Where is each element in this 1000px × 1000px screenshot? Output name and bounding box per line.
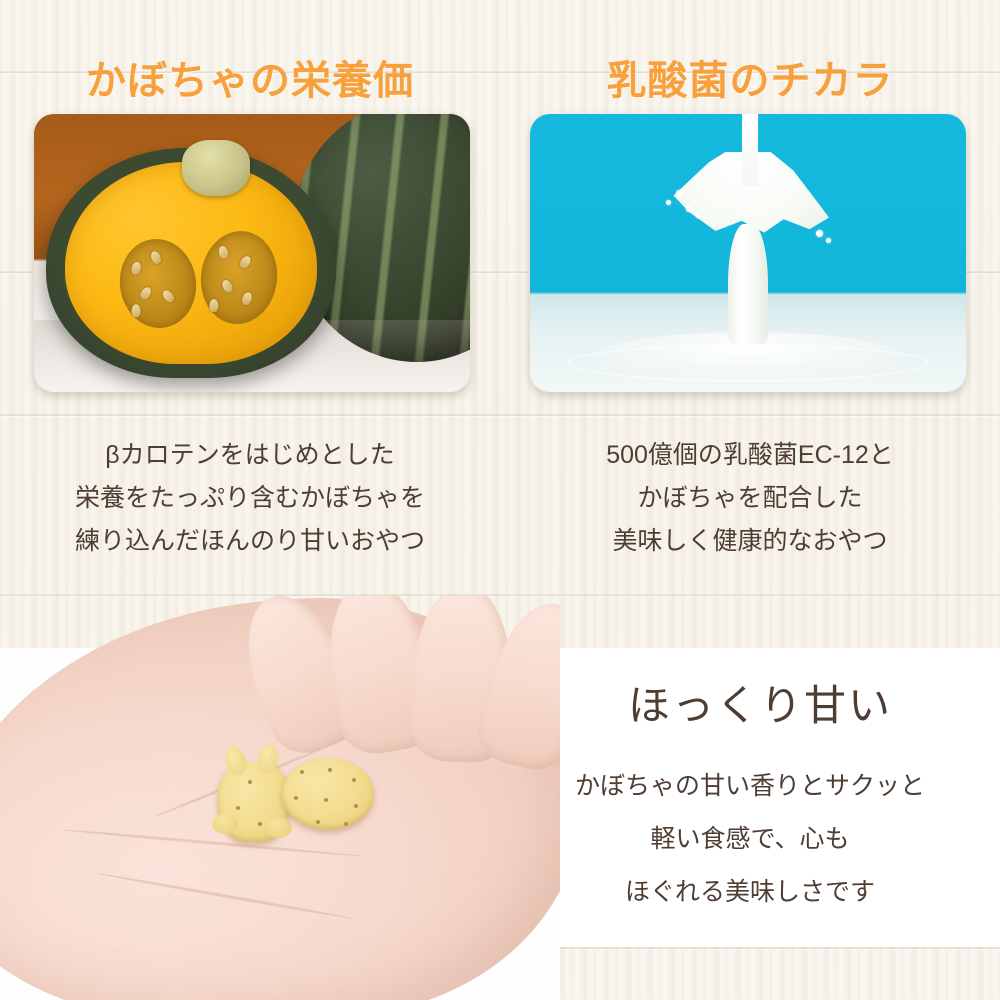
- cookie-dock-hole: [354, 804, 358, 808]
- right-panel-heading: 乳酸菌のチカラ: [500, 48, 1000, 106]
- bunny-foot: [212, 814, 238, 834]
- pumpkin-seed: [240, 290, 253, 305]
- seed-pocket: [115, 234, 202, 333]
- bunny-foot: [266, 818, 292, 838]
- milk-splash-photo-card: [530, 114, 966, 392]
- cookie-dock-hole: [300, 770, 304, 774]
- milk-droplet: [696, 214, 700, 218]
- pumpkin-flesh: [65, 162, 317, 364]
- right-panel-copy: 500億個の乳酸菌EC-12と かぼちゃを配合した 美味しく健康的なおやつ: [500, 434, 1000, 563]
- pumpkin-seed: [209, 298, 218, 311]
- copy-line: 美味しく健康的なおやつ: [500, 520, 1000, 563]
- milk-droplet: [826, 238, 831, 243]
- milk-droplet: [676, 190, 683, 197]
- cookie-dock-hole: [344, 822, 348, 826]
- milk-droplet: [816, 230, 823, 237]
- seed-pocket: [196, 226, 282, 328]
- milk-column: [728, 224, 768, 344]
- product-feature-banner: かぼちゃの栄養価: [0, 0, 1000, 1000]
- copy-line: 500億個の乳酸菌EC-12と: [500, 434, 1000, 477]
- cookie-dock-hole: [248, 780, 252, 784]
- pumpkin-seed: [161, 288, 176, 304]
- pumpkin-seed: [130, 260, 142, 275]
- bottom-heading: ほっくり甘い: [520, 672, 1000, 733]
- cookie-dock-hole: [294, 796, 298, 800]
- left-panel-heading: かぼちゃの栄養価: [0, 48, 500, 106]
- bunny-shaped-cookie: [218, 762, 290, 842]
- pumpkin-seed: [218, 245, 229, 259]
- round-scalloped-cookie: [282, 758, 374, 830]
- palm-crease: [62, 828, 361, 857]
- pumpkin-seed: [139, 285, 154, 301]
- cookie-dock-hole: [316, 820, 320, 824]
- copy-line: 練り込んだほんのり甘いおやつ: [0, 520, 500, 563]
- copy-line: かぼちゃを配合した: [500, 477, 1000, 520]
- cookie-dock-hole: [328, 768, 332, 772]
- copy-line: 軽い食感で、心も: [500, 813, 1000, 866]
- pumpkin-photo-card: [34, 114, 470, 392]
- plank-seam-line: [0, 414, 1000, 417]
- pumpkin-seed: [149, 250, 162, 265]
- cookie-dock-hole: [324, 798, 328, 802]
- cookie-dock-hole: [352, 778, 356, 782]
- pumpkin-seed: [132, 304, 141, 317]
- pumpkin-stem: [182, 140, 250, 196]
- milk-ripple: [568, 344, 928, 382]
- milk-droplet: [686, 206, 692, 212]
- cookie-dock-hole: [236, 806, 240, 810]
- cookie-dock-hole: [258, 822, 262, 826]
- copy-line: かぼちゃの甘い香りとサクッと: [500, 760, 1000, 813]
- copy-line: 栄養をたっぷり含むかぼちゃを: [0, 477, 500, 520]
- pumpkin-seed: [238, 254, 253, 270]
- pumpkin-seed: [220, 278, 234, 294]
- bottom-copy: かぼちゃの甘い香りとサクッと 軽い食感で、心も ほぐれる美味しさです: [500, 760, 1000, 919]
- milk-stream: [742, 114, 758, 186]
- milk-droplet: [666, 200, 671, 205]
- copy-line: βカロテンをはじめとした: [0, 434, 500, 477]
- palm-crease: [97, 872, 354, 920]
- copy-line: ほぐれる美味しさです: [500, 866, 1000, 919]
- left-panel-copy: βカロテンをはじめとした 栄養をたっぷり含むかぼちゃを 練り込んだほんのり甘いお…: [0, 434, 500, 563]
